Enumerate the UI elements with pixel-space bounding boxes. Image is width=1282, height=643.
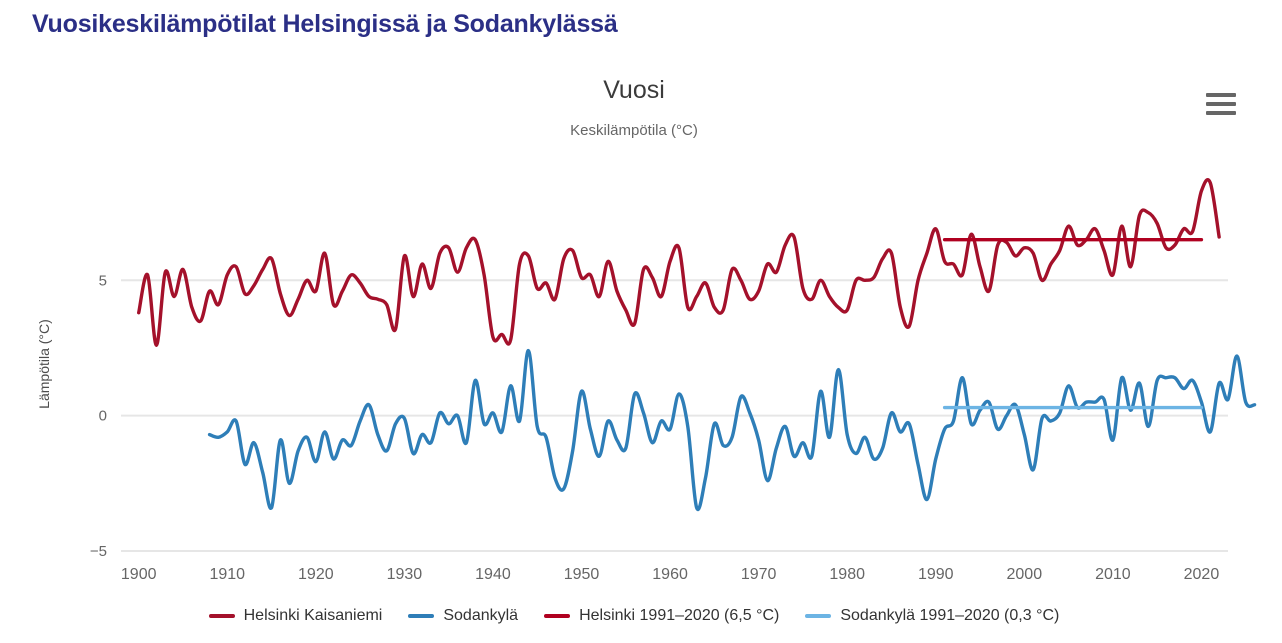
legend-label: Sodankylä 1991–2020 (0,3 °C) — [840, 607, 1059, 625]
page-title: Vuosikeskilämpötilat Helsingissä ja Soda… — [32, 10, 618, 39]
legend-label: Sodankylä — [443, 607, 518, 625]
series-line[interactable] — [139, 180, 1219, 346]
x-tick-label: 1990 — [918, 566, 954, 583]
plot-area: −505190019101920193019401950196019701980… — [0, 62, 1282, 643]
x-tick-label: 2010 — [1095, 566, 1131, 583]
x-tick-label: 1900 — [121, 566, 157, 583]
y-tick-label: 0 — [99, 408, 107, 425]
x-tick-label: 1940 — [475, 566, 511, 583]
x-tick-label: 1960 — [652, 566, 688, 583]
x-tick-label: 1950 — [564, 566, 600, 583]
x-tick-label: 1910 — [209, 566, 245, 583]
chart-container: Vuosi Keskilämpötila (°C) Lämpötila (°C)… — [0, 62, 1282, 643]
legend-label: Helsinki 1991–2020 (6,5 °C) — [579, 607, 779, 625]
chart-svg: −505190019101920193019401950196019701980… — [0, 62, 1282, 643]
x-tick-label: 2000 — [1007, 566, 1043, 583]
x-tick-label: 2020 — [1184, 566, 1220, 583]
legend-item[interactable]: Sodankylä — [408, 607, 518, 625]
legend-item[interactable]: Helsinki Kaisaniemi — [209, 607, 383, 625]
y-tick-label: 5 — [99, 272, 107, 289]
legend-swatch — [408, 614, 434, 618]
legend-label: Helsinki Kaisaniemi — [244, 607, 383, 625]
x-tick-label: 1970 — [741, 566, 777, 583]
legend-swatch — [544, 614, 570, 618]
x-tick-label: 1920 — [298, 566, 334, 583]
x-tick-label: 1930 — [387, 566, 423, 583]
y-tick-label: −5 — [90, 543, 107, 560]
legend-swatch — [209, 614, 235, 618]
chart-legend: Helsinki KaisaniemiSodankyläHelsinki 199… — [0, 607, 1268, 625]
legend-item[interactable]: Helsinki 1991–2020 (6,5 °C) — [544, 607, 779, 625]
legend-swatch — [805, 614, 831, 618]
series-line[interactable] — [210, 351, 1255, 510]
x-tick-label: 1980 — [829, 566, 865, 583]
legend-item[interactable]: Sodankylä 1991–2020 (0,3 °C) — [805, 607, 1059, 625]
